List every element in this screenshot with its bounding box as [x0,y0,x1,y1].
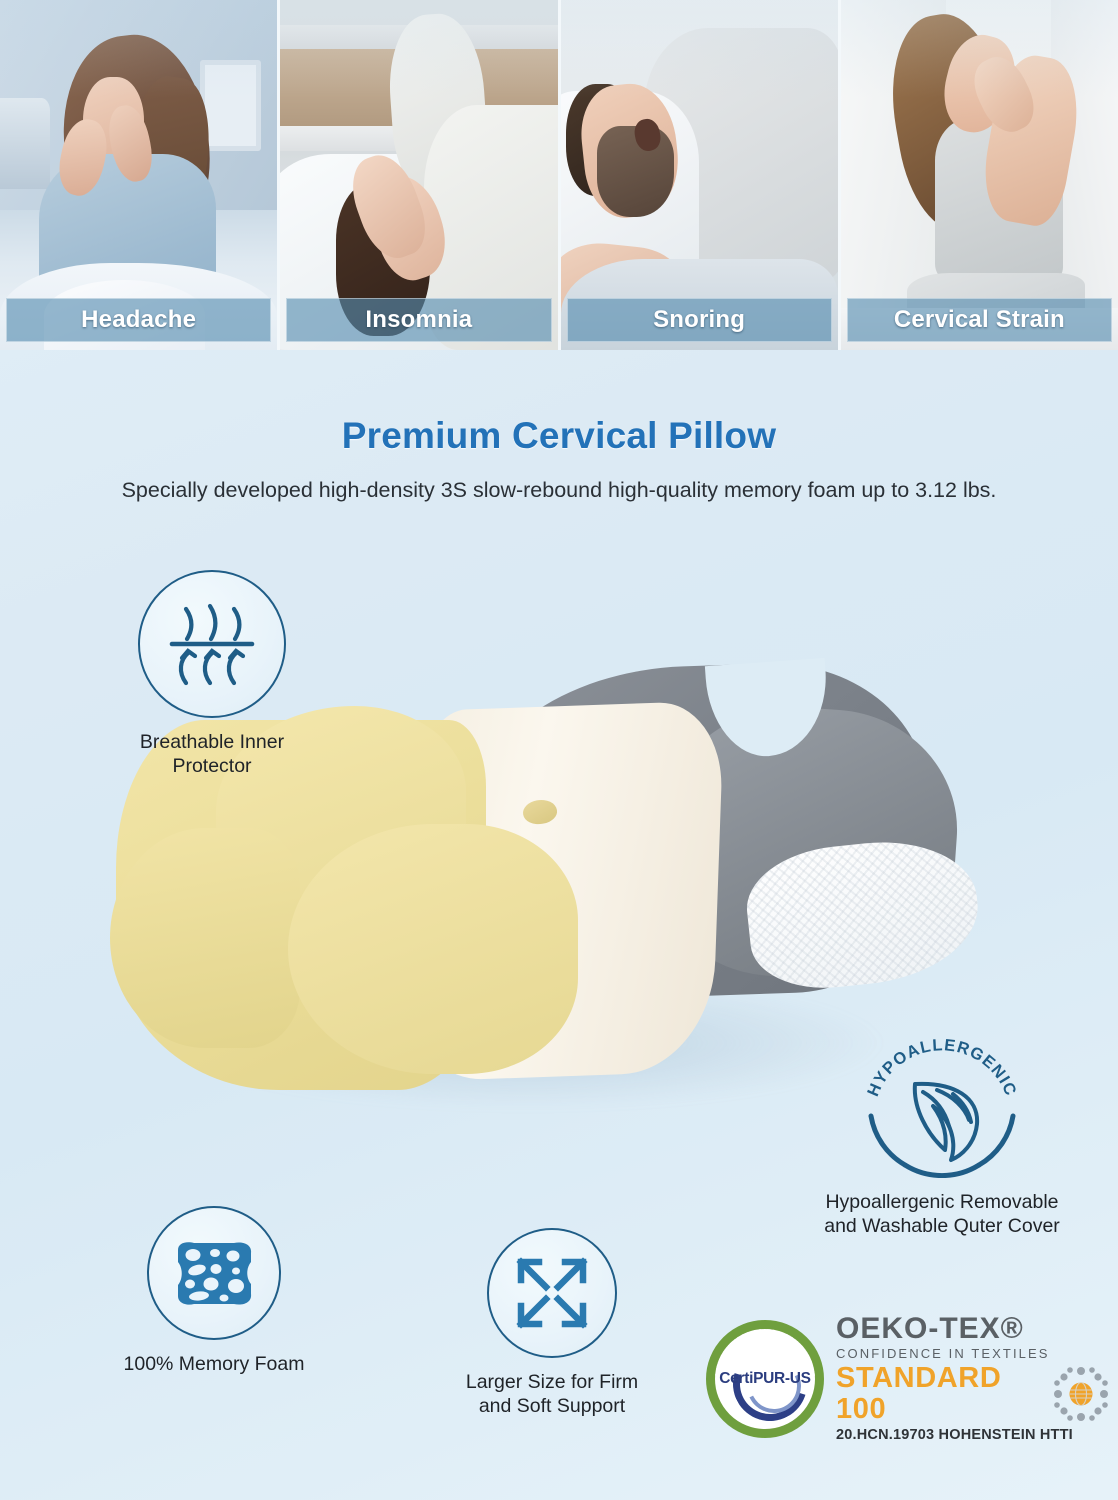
panel-label-text: Headache [81,306,196,334]
product-infographic: Headache Insomnia Snoring [0,0,1118,1500]
panel-label-snoring: Snoring [567,298,832,342]
feature-label-text: 100% Memory Foam [124,1353,305,1375]
page-subtitle: Specially developed high-density 3S slow… [0,478,1118,503]
oeko-tex-certificate-number: 20.HCN.19703 HOHENSTEIN HTTI [836,1425,1110,1445]
expand-arrows-icon [510,1251,594,1335]
foam-sponge-icon [166,1238,262,1308]
panel-label-text: Cervical Strain [894,306,1065,334]
certification-row: CONTAINS CERTIFIED FLEXIBLE POLYURETHANE… [706,1314,1110,1444]
oeko-tex-logo: OEKO-TEX® CONFIDENCE IN TEXTILES STANDAR… [836,1313,1110,1445]
panel-label-cervical-strain: Cervical Strain [847,298,1112,342]
feature-icon-circle [487,1228,617,1358]
feature-label: Larger Size for Firm and Soft Support [444,1370,660,1419]
pillow-foam-lobe-bottom [288,824,578,1074]
panel-label-text: Snoring [653,306,745,334]
pillow-foam-lobe-left [110,828,300,1048]
panel-label-headache: Headache [6,298,271,342]
problem-panel-snoring: Snoring [561,0,841,350]
panel-label-insomnia: Insomnia [286,298,551,342]
problem-panel-headache: Headache [0,0,280,350]
feature-label-text: Larger Size for Firm and Soft Support [466,1371,638,1417]
feature-label: Breathable Inner Protector [112,730,312,779]
panel-label-text: Insomnia [365,306,472,334]
page-title: Premium Cervical Pillow [0,415,1118,457]
oeko-tex-standard: STANDARD 100 [836,1363,1044,1424]
oeko-tex-name: OEKO-TEX® [836,1313,1110,1344]
problem-panel-insomnia: Insomnia [280,0,560,350]
feature-hypoallergenic: HYPOALLERGENIC Hypoallergenic Removable … [792,1038,1092,1239]
airflow-icon [160,592,264,696]
feature-label: Hypoallergenic Removable and Washable Qu… [792,1190,1092,1239]
problem-panel-cervical-strain: Cervical Strain [841,0,1118,350]
feature-icon-circle [138,570,286,718]
hypoallergenic-arc-text: HYPOALLERGENIC [864,1038,1020,1099]
hypoallergenic-badge: HYPOALLERGENIC [853,1038,1031,1178]
feature-label: 100% Memory Foam [104,1352,324,1376]
feature-label-text: Breathable Inner Protector [140,731,284,777]
certipur-wordmark: CertiPUR-US [719,1370,810,1388]
certipur-us-logo: CONTAINS CERTIFIED FLEXIBLE POLYURETHANE… [706,1320,824,1438]
feature-memory-foam: 100% Memory Foam [104,1206,324,1376]
feature-icon-circle [147,1206,281,1340]
svg-text:HYPOALLERGENIC: HYPOALLERGENIC [864,1038,1020,1099]
feature-larger-size: Larger Size for Firm and Soft Support [444,1228,660,1419]
leaf-icon: HYPOALLERGENIC [853,1038,1031,1178]
oeko-tex-tagline: CONFIDENCE IN TEXTILES [836,1344,1110,1364]
oeko-tex-mark-icon [1052,1365,1110,1423]
feature-label-text: Hypoallergenic Removable and Washable Qu… [824,1191,1060,1237]
feature-breathable-inner-protector: Breathable Inner Protector [112,570,312,779]
problem-photo-strip: Headache Insomnia Snoring [0,0,1118,350]
